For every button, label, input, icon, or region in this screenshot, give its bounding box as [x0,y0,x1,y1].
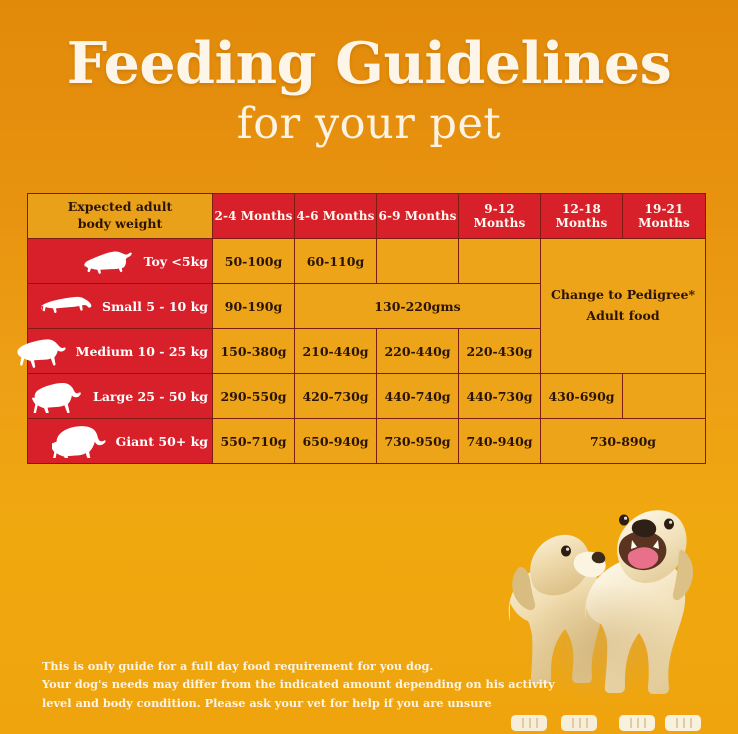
pedigree-note-line1: Change to Pedigree* [551,287,695,302]
dog-giant-icon [52,424,110,458]
row-label-text: Medium 10 - 25 kg [76,344,212,359]
pedigree-note-line2: Adult food [586,308,659,323]
page-title: Feeding Guidelines [0,34,738,94]
header-col-19-21-months: 19-21 Months [623,194,706,239]
dog-small-icon [38,289,96,323]
header-col-2-4-months: 2-4 Months [213,194,295,239]
dog-medium-icon [12,334,70,368]
header-col-6-9-months: 6-9 Months [377,194,459,239]
cell-medium-6-9: 220-440g [377,329,459,374]
cell-medium-4-6: 210-440g [295,329,377,374]
cell-giant-9-12: 740-940g [459,419,541,464]
table-row: Large 25 - 50 kg 290-550g 420-730g 440-7… [28,374,706,419]
page-subtitle: for your pet [0,100,738,149]
table-row: Giant 50+ kg 550-710g 650-940g 730-950g … [28,419,706,464]
cell-medium-2-4: 150-380g [213,329,295,374]
feeding-table: Expected adult body weight 2-4 Months 4-… [27,193,706,464]
cell-large-12-18: 430-690g [541,374,623,419]
cell-large-19-21 [623,374,706,419]
header-expected-adult-body-weight: Expected adult body weight [28,194,213,239]
header-col-9-12-months: 9-12 Months [459,194,541,239]
puppies-photo [474,472,732,734]
cell-change-to-pedigree-adult-food: Change to Pedigree* Adult food [541,239,706,374]
cell-medium-9-12: 220-430g [459,329,541,374]
header-weight-line2: body weight [78,216,163,231]
cell-toy-4-6: 60-110g [295,239,377,284]
row-label-toy: Toy <5kg [28,239,213,284]
feeding-table-wrapper: Expected adult body weight 2-4 Months 4-… [27,193,705,464]
dog-toy-icon [80,244,138,278]
footer-line-1: This is only guide for a full day food r… [42,657,492,675]
row-label-text: Small 5 - 10 kg [102,299,212,314]
cell-giant-2-4: 550-710g [213,419,295,464]
cell-small-4-12-merged: 130-220gms [295,284,541,329]
footer-line-3: level and body condition. Please ask you… [42,694,492,712]
cell-small-2-4: 90-190g [213,284,295,329]
header-col-4-6-months: 4-6 Months [295,194,377,239]
feeding-guidelines-poster: Feeding Guidelines for your pet Expected… [0,0,738,734]
cell-giant-12-21-merged: 730-890g [541,419,706,464]
cell-large-2-4: 290-550g [213,374,295,419]
row-label-small: Small 5 - 10 kg [28,284,213,329]
table-header-row: Expected adult body weight 2-4 Months 4-… [28,194,706,239]
row-label-text: Large 25 - 50 kg [93,389,212,404]
row-label-medium: Medium 10 - 25 kg [28,329,213,374]
cell-large-6-9: 440-740g [377,374,459,419]
cell-large-4-6: 420-730g [295,374,377,419]
cell-giant-6-9: 730-950g [377,419,459,464]
cell-toy-2-4: 50-100g [213,239,295,284]
dog-large-icon [29,379,87,413]
row-label-text: Giant 50+ kg [116,434,212,449]
row-label-giant: Giant 50+ kg [28,419,213,464]
row-label-large: Large 25 - 50 kg [28,374,213,419]
header-weight-line1: Expected adult [68,199,173,214]
footer-disclaimer: This is only guide for a full day food r… [42,657,492,712]
footer-line-2: Your dog's needs may differ from the ind… [42,675,492,693]
header-col-12-18-months: 12-18 Months [541,194,623,239]
cell-toy-9-12 [459,239,541,284]
cell-giant-4-6: 650-940g [295,419,377,464]
cell-large-9-12: 440-730g [459,374,541,419]
table-row: Toy <5kg 50-100g 60-110g Change to Pedig… [28,239,706,284]
title-block: Feeding Guidelines for your pet [0,34,738,149]
cell-toy-6-9 [377,239,459,284]
row-label-text: Toy <5kg [144,254,212,269]
